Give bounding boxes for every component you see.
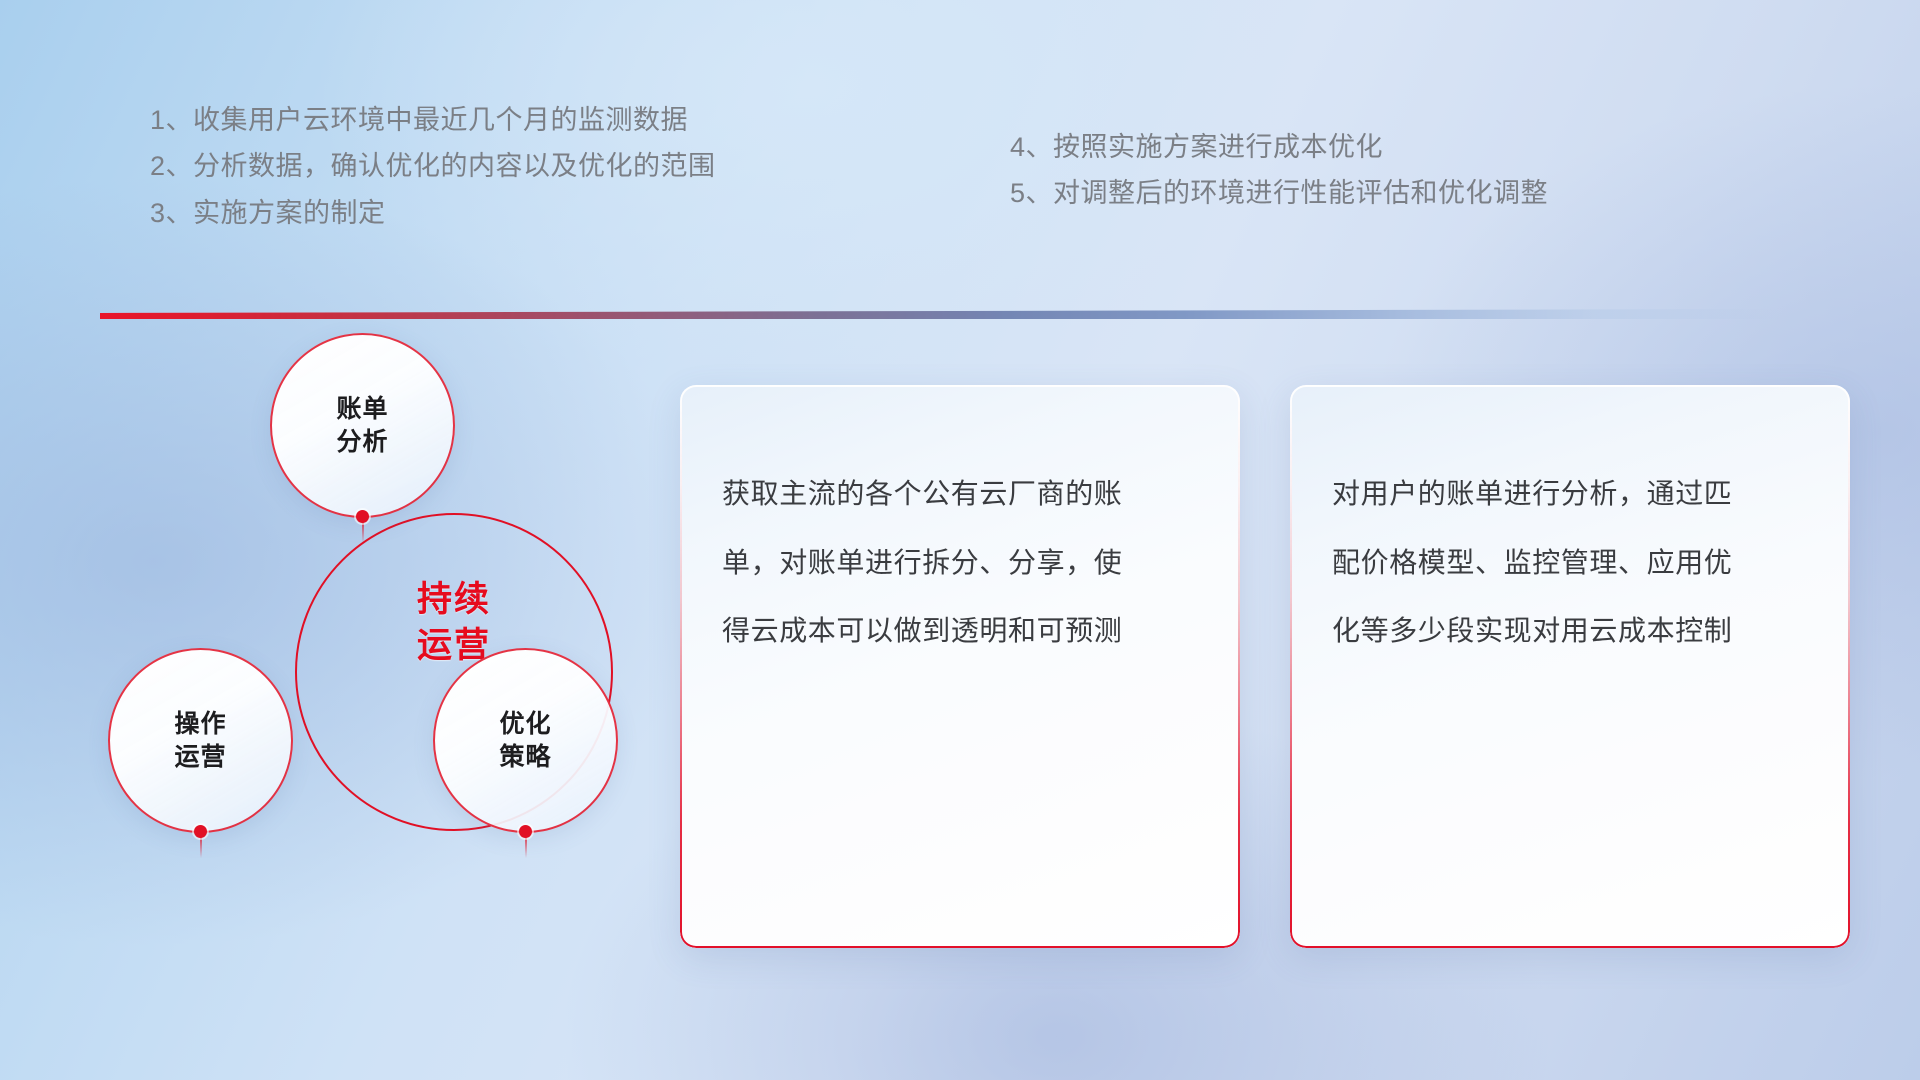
steps-list-left: 1、收集用户云环境中最近几个月的监测数据 2、分析数据，确认优化的内容以及优化的…	[150, 97, 716, 236]
cycle-node-optimization-strategy-line-1: 优化	[499, 708, 551, 741]
card2-body-line-2: 配价格模型、监控管理、应用优	[1332, 529, 1808, 598]
feature-card-multicloud-billing[interactable]: 获取主流的各个公有云厂商的账 单，对账单进行拆分、分享，使 得云成本可以做到透明…	[680, 385, 1240, 948]
feature-card-cost-optimization[interactable]: 对用户的账单进行分析，通过匹 配价格模型、监控管理、应用优 化等多少段实现对用云…	[1290, 385, 1850, 948]
card1-body-line-3: 得云成本可以做到透明和可预测	[722, 597, 1198, 666]
card2-body-line-3: 化等多少段实现对用云成本控制	[1332, 597, 1808, 666]
card2-body-line-1: 对用户的账单进行分析，通过匹	[1332, 460, 1808, 529]
card1-body-line-1: 获取主流的各个公有云厂商的账	[722, 460, 1198, 529]
step-item-5: 5、对调整后的环境进行性能评估和优化调整	[1010, 170, 1548, 216]
connector-stem-right-icon	[525, 836, 527, 858]
cycle-node-operations[interactable]: 操作 运营	[108, 648, 293, 833]
cycle-node-bill-analysis[interactable]: 账单 分析	[270, 333, 455, 518]
card1-body-line-2: 单，对账单进行拆分、分享，使	[722, 529, 1198, 598]
cycle-node-optimization-strategy-line-2: 策略	[499, 741, 551, 774]
connector-stem-left-icon	[200, 836, 202, 858]
cycle-center-label: 持续 运营	[295, 577, 613, 669]
feature-card-multicloud-billing-body: 获取主流的各个公有云厂商的账 单，对账单进行拆分、分享，使 得云成本可以做到透明…	[722, 460, 1198, 666]
cycle-node-operations-line-1: 操作	[174, 708, 226, 741]
step-item-2: 2、分析数据，确认优化的内容以及优化的范围	[150, 143, 716, 189]
cycle-node-operations-line-2: 运营	[174, 741, 226, 774]
cycle-node-bill-analysis-line-1: 账单	[336, 393, 388, 426]
connector-dot-left-icon	[194, 825, 207, 838]
connector-dot-top-icon	[356, 510, 369, 523]
cycle-node-optimization-strategy[interactable]: 优化 策略	[433, 648, 618, 833]
feature-card-cost-optimization-body: 对用户的账单进行分析，通过匹 配价格模型、监控管理、应用优 化等多少段实现对用云…	[1332, 460, 1808, 666]
step-item-3: 3、实施方案的制定	[150, 190, 716, 236]
steps-list-right: 4、按照实施方案进行成本优化 5、对调整后的环境进行性能评估和优化调整	[1010, 124, 1548, 217]
cycle-node-bill-analysis-line-2: 分析	[336, 426, 388, 459]
section-divider-bar	[100, 309, 1780, 319]
connector-stem-top-icon	[362, 521, 364, 543]
connector-dot-right-icon	[519, 825, 532, 838]
step-item-4: 4、按照实施方案进行成本优化	[1010, 124, 1548, 170]
cycle-center-line-1: 持续	[295, 577, 613, 623]
step-item-1: 1、收集用户云环境中最近几个月的监测数据	[150, 97, 716, 143]
section-divider	[100, 309, 1780, 319]
cycle-diagram: 持续 运营 账单 分析 操作 运营 优化 策略	[100, 345, 660, 975]
slide-canvas: 1、收集用户云环境中最近几个月的监测数据 2、分析数据，确认优化的内容以及优化的…	[0, 0, 1920, 1080]
